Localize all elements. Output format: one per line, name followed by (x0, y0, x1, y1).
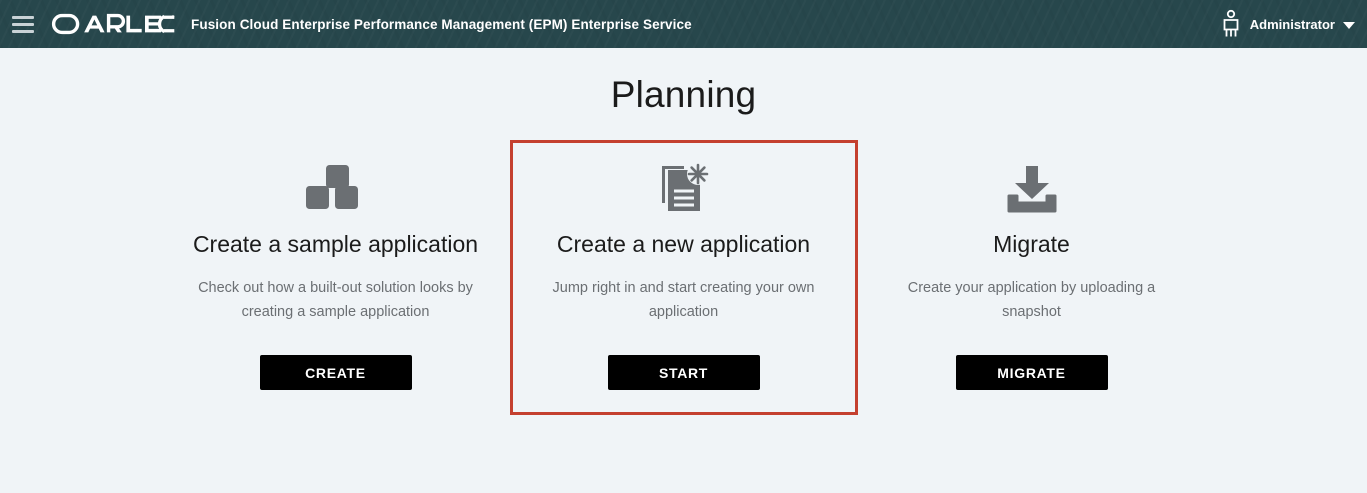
card-title: Create a sample application (193, 231, 478, 257)
card-container: Create a sample application Check out ho… (0, 140, 1367, 415)
card-create-new-application[interactable]: Create a new application Jump right in a… (510, 140, 858, 415)
card-description: Create your application by uploading a s… (882, 277, 1182, 325)
card-description: Check out how a built-out solution looks… (186, 277, 486, 325)
header-right-region: Administrator (1220, 9, 1367, 39)
migrate-button[interactable]: MIGRATE (956, 355, 1108, 390)
global-header: Fusion Cloud Enterprise Performance Mana… (0, 0, 1367, 48)
download-tray-icon (1003, 161, 1061, 217)
new-document-sparkle-icon (656, 161, 712, 217)
page-title: Planning (0, 48, 1367, 116)
blocks-cluster-icon (305, 161, 367, 217)
hamburger-bar (12, 23, 34, 26)
hamburger-bar (12, 30, 34, 33)
hamburger-bar (12, 16, 34, 19)
application-title: Fusion Cloud Enterprise Performance Mana… (191, 17, 692, 32)
start-button[interactable]: START (608, 355, 760, 390)
card-migrate[interactable]: Migrate Create your application by uploa… (858, 140, 1206, 415)
card-create-sample-application[interactable]: Create a sample application Check out ho… (162, 140, 510, 415)
card-title: Migrate (993, 231, 1070, 257)
card-description: Jump right in and start creating your ow… (534, 277, 834, 325)
user-menu[interactable]: Administrator (1220, 9, 1355, 39)
oracle-logo[interactable] (51, 13, 175, 35)
page-content: Planning Create a sample application Che… (0, 48, 1367, 493)
create-button[interactable]: CREATE (260, 355, 412, 390)
user-name-label: Administrator (1250, 17, 1335, 32)
person-icon[interactable] (1220, 9, 1242, 39)
hamburger-menu-icon[interactable] (0, 0, 46, 48)
card-title: Create a new application (557, 231, 810, 257)
chevron-down-icon[interactable] (1343, 22, 1355, 29)
